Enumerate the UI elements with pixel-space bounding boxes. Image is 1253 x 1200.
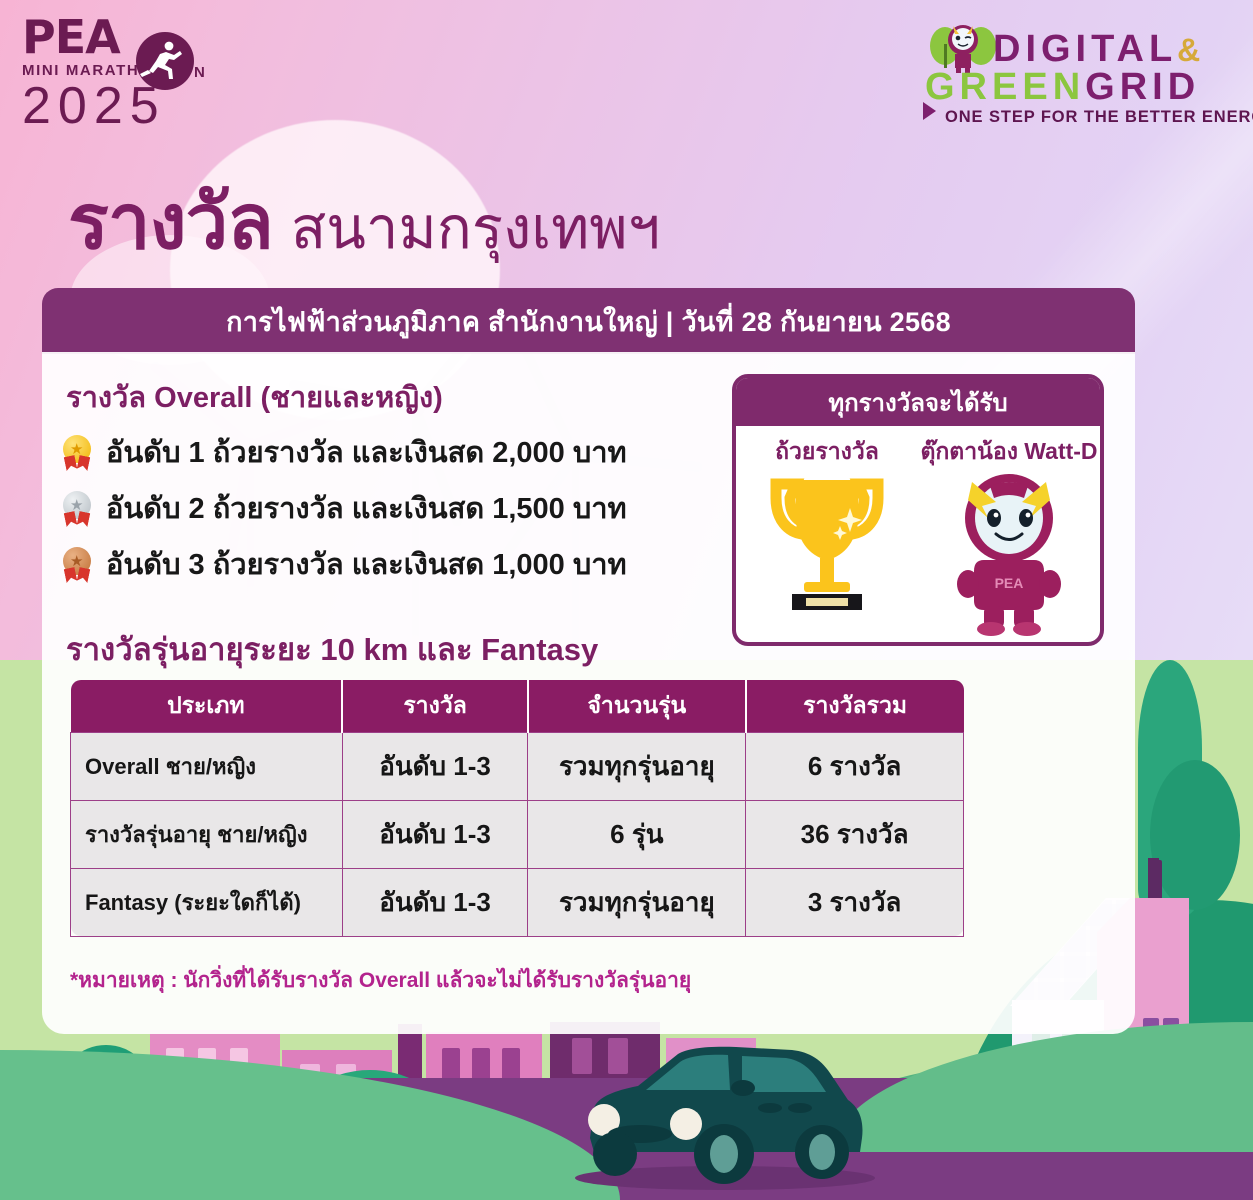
pea-logo: PEA MINI MARATH 2025 N [22, 14, 222, 134]
cell-total: 6 รางวัล [746, 732, 964, 800]
all-awards-box: ทุกรางวัลจะได้รับ ถ้วยรางวัล [732, 374, 1104, 646]
table-header-row: ประเภท รางวัล จำนวนรุ่น รางวัลรวม [71, 680, 964, 732]
trophy-icon [762, 472, 892, 622]
list-item-label: อันดับ 2 ถ้วยรางวัล และเงินสด 1,500 บาท [106, 485, 627, 531]
pea-logo-n: N [194, 64, 205, 81]
poster-root: PEA MINI MARATH 2025 N [0, 0, 1253, 1200]
column-header-category: ประเภท [71, 680, 343, 732]
cell-category: Overall ชาย/หญิง [71, 732, 343, 800]
cell-prize: อันดับ 1-3 [342, 868, 528, 936]
dgg-line-digital: DIGITAL& [993, 28, 1205, 71]
dgg-tagline: ONE STEP FOR THE BETTER ENERGY [945, 108, 1253, 127]
cell-groups: 6 รุ่น [528, 800, 746, 868]
silver-medal-icon: ★ [60, 491, 94, 525]
cell-category: รางวัลรุ่นอายุ ชาย/หญิง [71, 800, 343, 868]
trophy-label: ถ้วยรางวัล [736, 434, 918, 470]
digital-green-grid-logo: DIGITAL& GREENGRID ONE STEP FOR THE BETT… [903, 16, 1233, 134]
cell-category: Fantasy (ระยะใดก็ได้) [71, 868, 343, 936]
bronze-medal-icon: ★ [60, 547, 94, 581]
cell-total: 3 รางวัล [746, 868, 964, 936]
gold-medal-icon: ★ [60, 435, 94, 469]
column-header-prize: รางวัล [342, 680, 528, 732]
list-item-label: อันดับ 1 ถ้วยรางวัล และเงินสด 2,000 บาท [106, 429, 627, 475]
event-header-bar: การไฟฟ้าส่วนภูมิภาค สำนักงานใหญ่ | วันที… [42, 288, 1135, 354]
page-title-sub: สนามกรุงเทพฯ [291, 181, 660, 274]
all-awards-body: ถ้วยรางวัล ตุ๊กตาน้อง Watt-D [736, 426, 1100, 642]
mascot-column: ตุ๊กตาน้อง Watt-D PEA [918, 426, 1100, 642]
all-awards-heading: ทุกรางวัลจะได้รับ [736, 378, 1100, 426]
table-row: Overall ชาย/หญิง อันดับ 1-3 รวมทุกรุ่นอา… [71, 732, 964, 800]
watt-d-doll-icon: PEA [944, 466, 1074, 636]
overall-section-heading: รางวัล Overall (ชายและหญิง) [66, 374, 443, 420]
car-illustration [560, 1042, 880, 1192]
dgg-green-text: GREEN [925, 66, 1085, 108]
overall-prize-list: ★ อันดับ 1 ถ้วยรางวัล และเงินสด 2,000 บา… [60, 424, 627, 592]
page-title: รางวัล สนามกรุงเทพฯ [68, 162, 660, 282]
event-header-text: การไฟฟ้าส่วนภูมิภาค สำนักงานใหญ่ | วันที… [226, 300, 951, 343]
cell-groups: รวมทุกรุ่นอายุ [528, 732, 746, 800]
list-item-label: อันดับ 3 ถ้วยรางวัล และเงินสด 1,000 บาท [106, 541, 627, 587]
column-header-groups: จำนวนรุ่น [528, 680, 746, 732]
table-row: รางวัลรุ่นอายุ ชาย/หญิง อันดับ 1-3 6 รุ่… [71, 800, 964, 868]
dgg-line-greengrid: GREENGRID [925, 66, 1200, 109]
triangle-bullet-icon [923, 102, 936, 120]
prize-table: ประเภท รางวัล จำนวนรุ่น รางวัลรวม Overal… [70, 680, 964, 937]
table-row: Fantasy (ระยะใดก็ได้) อันดับ 1-3 รวมทุกร… [71, 868, 964, 936]
trophy-column: ถ้วยรางวัล [736, 426, 918, 642]
footnote: *หมายเหตุ : นักวิ่งที่ได้รับรางวัล Overa… [70, 964, 691, 997]
list-item: ★ อันดับ 2 ถ้วยรางวัล และเงินสด 1,500 บา… [60, 480, 627, 536]
dgg-ampersand: & [1177, 32, 1205, 68]
house-chimney [1148, 860, 1162, 902]
runner-icon [136, 32, 194, 90]
mascot-label: ตุ๊กตาน้อง Watt-D [918, 434, 1100, 470]
cell-prize: อันดับ 1-3 [342, 800, 528, 868]
cell-prize: อันดับ 1-3 [342, 732, 528, 800]
list-item: ★ อันดับ 3 ถ้วยรางวัล และเงินสด 1,000 บา… [60, 536, 627, 592]
column-header-total: รางวัลรวม [746, 680, 964, 732]
cell-total: 36 รางวัล [746, 800, 964, 868]
page-title-main: รางวัล [68, 162, 273, 282]
tree-crown [1150, 760, 1240, 910]
cell-groups: รวมทุกรุ่นอายุ [528, 868, 746, 936]
content-card: รางวัล Overall (ชายและหญิง) ★ อันดับ 1 ถ… [42, 352, 1135, 1034]
age-section-heading: รางวัลรุ่นอายุระยะ 10 km และ Fantasy [66, 624, 598, 674]
dgg-digital-text: DIGITAL [993, 28, 1177, 70]
dgg-grid-text: GRID [1085, 66, 1200, 108]
list-item: ★ อันดับ 1 ถ้วยรางวัล และเงินสด 2,000 บา… [60, 424, 627, 480]
svg-text:PEA: PEA [995, 575, 1024, 591]
